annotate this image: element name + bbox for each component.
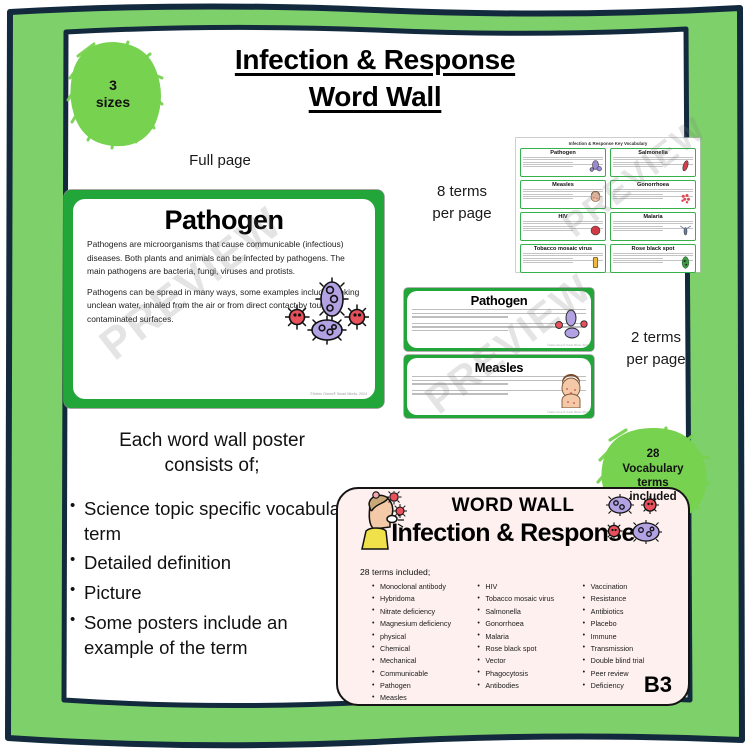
badge-terms-line1: 28 — [622, 447, 683, 461]
word-wall-term: Pathogen — [372, 680, 463, 692]
word-wall-column-1: Monoclonal antibody Hybridoma Nitrate de… — [372, 581, 463, 705]
word-wall-term: Double blind trial — [583, 655, 674, 667]
word-wall-term: Phagocytosis — [477, 668, 568, 680]
word-wall-term: Vaccination — [583, 581, 674, 593]
word-wall-term: Tobacco mosaic virus — [477, 593, 568, 605]
label-full-page: Full page — [150, 150, 290, 172]
mosquito-icon — [678, 223, 693, 238]
word-wall-term: Resistance — [583, 593, 674, 605]
features-section: Each word wall poster consists of; Scien… — [62, 428, 362, 666]
thumb8-cell: Gonorrhoea — [610, 180, 696, 209]
label-two-terms-line1: 2 terms — [597, 327, 715, 349]
features-heading-line2: consists of; — [62, 453, 362, 478]
thumb2-card: Pathogen ©Helen Green® Smart Minds, 2024 — [404, 288, 594, 351]
word-wall-cover-card: WORD WALL Infection & Response — [336, 487, 690, 706]
tobacco-mosaic-virus-icon — [588, 255, 603, 270]
word-wall-term: Hybridoma — [372, 593, 463, 605]
features-heading-line1: Each word wall poster — [62, 428, 362, 453]
gonorrhoea-bacteria-icon — [678, 191, 693, 206]
word-wall-code-badge: B3 — [644, 672, 672, 698]
word-wall-term: Monoclonal antibody — [372, 581, 463, 593]
poster-inner: Pathogen Pathogens are microorganisms th… — [73, 199, 375, 399]
word-wall-term-columns: Monoclonal antibody Hybridoma Nitrate de… — [338, 581, 688, 705]
word-wall-count-label: 28 terms included; — [360, 567, 688, 577]
page-title-line2: Word Wall — [140, 79, 610, 116]
bacteria-icon — [588, 159, 603, 174]
thumb2-credit: ©Helen Green® Smart Minds, 2024 — [547, 411, 588, 414]
thumb2-card: Measles ©Helen Green® Smart Minds, 2024 — [404, 355, 594, 418]
label-eight-terms-line2: per page — [402, 203, 522, 225]
badge-sizes-word: sizes — [96, 94, 130, 112]
feature-item: Detailed definition — [84, 551, 362, 576]
word-wall-term: Chemical — [372, 643, 463, 655]
label-two-terms-line2: per page — [597, 349, 715, 371]
word-wall-term: Mechanical — [372, 655, 463, 667]
word-wall-term: Gonorrhoea — [477, 618, 568, 630]
word-wall-term: Transmission — [583, 643, 674, 655]
poster-credit: ©Helen Green® Smart Minds, 2024 — [310, 392, 367, 396]
word-wall-term: Rose black spot — [477, 643, 568, 655]
microbe-cluster-icon — [285, 277, 369, 349]
word-wall-term: physical — [372, 631, 463, 643]
word-wall-term: Placebo — [583, 618, 674, 630]
word-wall-term: Vector — [477, 655, 568, 667]
label-two-terms-per-page: 2 terms per page — [597, 327, 715, 371]
word-wall-term: Malaria — [477, 631, 568, 643]
page-title: Infection & Response Word Wall — [140, 42, 610, 116]
word-wall-term: Immune — [583, 631, 674, 643]
measles-child-icon — [554, 374, 588, 408]
rose-black-spot-leaf-icon — [678, 255, 693, 270]
poster-preview-page: 3 sizes Infection & Response Word Wall F… — [0, 0, 750, 750]
thumb8-cell: Rose black spot — [610, 244, 696, 273]
bacteria-icon — [554, 307, 588, 341]
features-list: Science topic specific vocabulary term D… — [62, 497, 362, 661]
feature-item: Science topic specific vocabulary term — [84, 497, 362, 547]
word-wall-term: Magnesium deficiency — [372, 618, 463, 630]
feature-item: Picture — [84, 581, 362, 606]
thumb8-cell: Measles — [520, 180, 606, 209]
full-page-poster-sample: Pathogen Pathogens are microorganisms th… — [64, 190, 384, 408]
thumb2-term: Measles — [407, 360, 591, 375]
thumb8-cell: Pathogen — [520, 148, 606, 177]
badge-terms-line4: included — [622, 490, 683, 504]
word-wall-column-2: HIV Tobacco mosaic virus Salmonella Gono… — [477, 581, 568, 705]
word-wall-term: Antibodies — [477, 680, 568, 692]
thumb8-cell: Malaria — [610, 212, 696, 241]
thumb8-header: Infection & Response Key Vocabulary — [520, 141, 696, 146]
hiv-virus-icon — [588, 223, 603, 238]
word-wall-term: HIV — [477, 581, 568, 593]
badge-sizes-number: 3 — [96, 77, 130, 95]
measles-child-icon — [588, 191, 603, 206]
thumb8-grid: Pathogen Salmonella Measles Gonorrhoea H — [520, 148, 696, 273]
thumb2-term: Pathogen — [407, 293, 591, 308]
feature-item: Some posters include an example of the t… — [84, 611, 362, 661]
word-wall-term: Measles — [372, 692, 463, 704]
word-wall-term: Salmonella — [477, 606, 568, 618]
word-wall-term: Antibiotics — [583, 606, 674, 618]
poster-paragraph-1: Pathogens are microorganisms that cause … — [87, 238, 361, 279]
page-title-line1: Infection & Response — [140, 42, 610, 79]
label-eight-terms-per-page: 8 terms per page — [402, 181, 522, 225]
two-terms-page-thumbnail: Pathogen ©Helen Green® Smart Minds, 2024… — [404, 288, 594, 425]
features-heading: Each word wall poster consists of; — [62, 428, 362, 479]
thumb2-credit: ©Helen Green® Smart Minds, 2024 — [547, 344, 588, 347]
word-wall-term: Nitrate deficiency — [372, 606, 463, 618]
thumb8-cell: Tobacco mosaic virus — [520, 244, 606, 273]
badge-terms-line3: terms — [622, 476, 683, 490]
badge-terms-line2: Vocabulary — [622, 462, 683, 476]
eight-terms-page-thumbnail: Infection & Response Key Vocabulary Path… — [516, 138, 700, 272]
salmonella-bacterium-icon — [678, 159, 693, 174]
label-eight-terms-line1: 8 terms — [402, 181, 522, 203]
poster-term-title: Pathogen — [73, 205, 375, 236]
word-wall-term: Communicable — [372, 668, 463, 680]
thumb8-cell: Salmonella — [610, 148, 696, 177]
thumb8-cell: HIV — [520, 212, 606, 241]
